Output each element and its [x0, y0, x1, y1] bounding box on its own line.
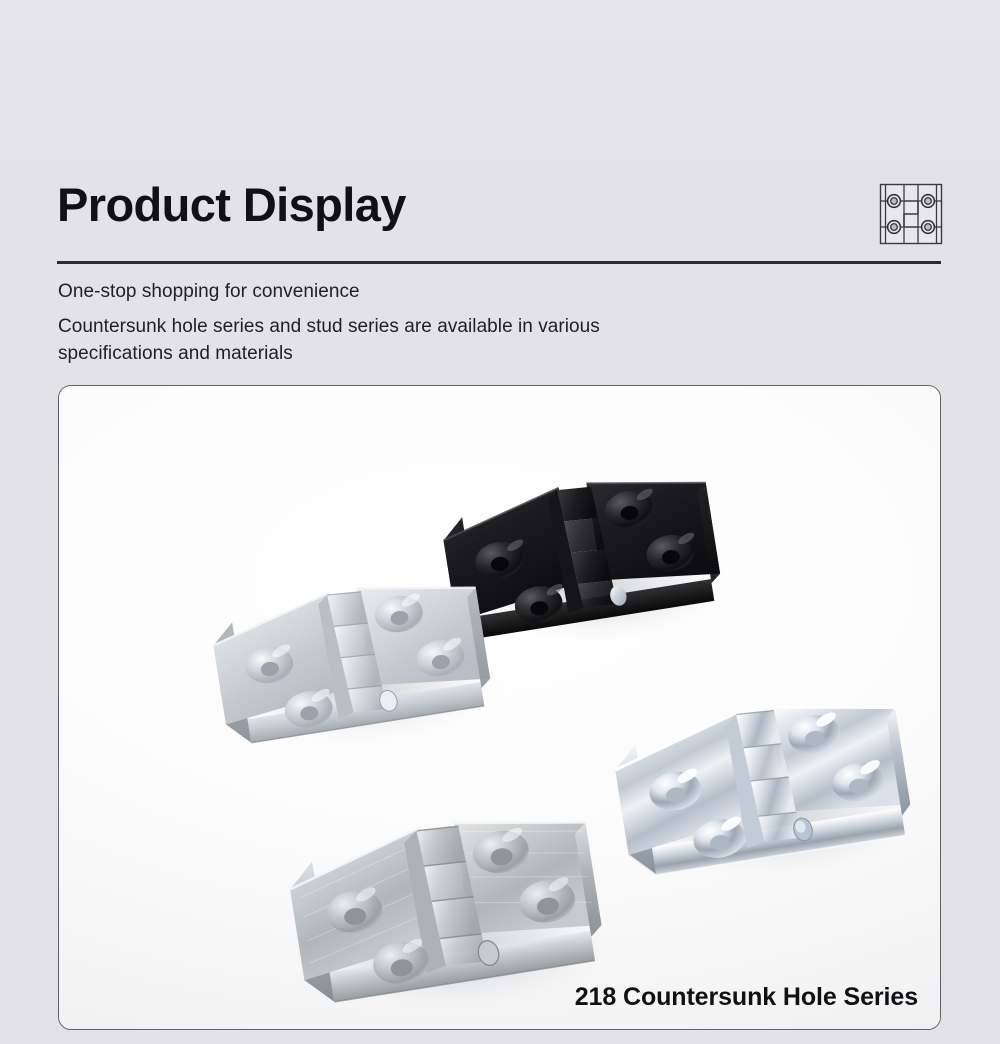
subtitle-block: One-stop shopping for convenience Counte… [58, 278, 758, 367]
hinge-line-art-icon [877, 181, 945, 247]
subtitle-line-2: Countersunk hole series and stud series … [58, 313, 698, 367]
page-root: Product Display [0, 0, 1000, 1044]
page-title: Product Display [57, 176, 941, 234]
product-photo-illustration [59, 386, 941, 1030]
product-photo-panel: 218 Countersunk Hole Series [58, 385, 941, 1030]
subtitle-line-1: One-stop shopping for convenience [58, 278, 758, 305]
title-divider [57, 261, 941, 264]
page-header: Product Display [57, 176, 941, 276]
series-caption: 218 Countersunk Hole Series [575, 983, 918, 1012]
